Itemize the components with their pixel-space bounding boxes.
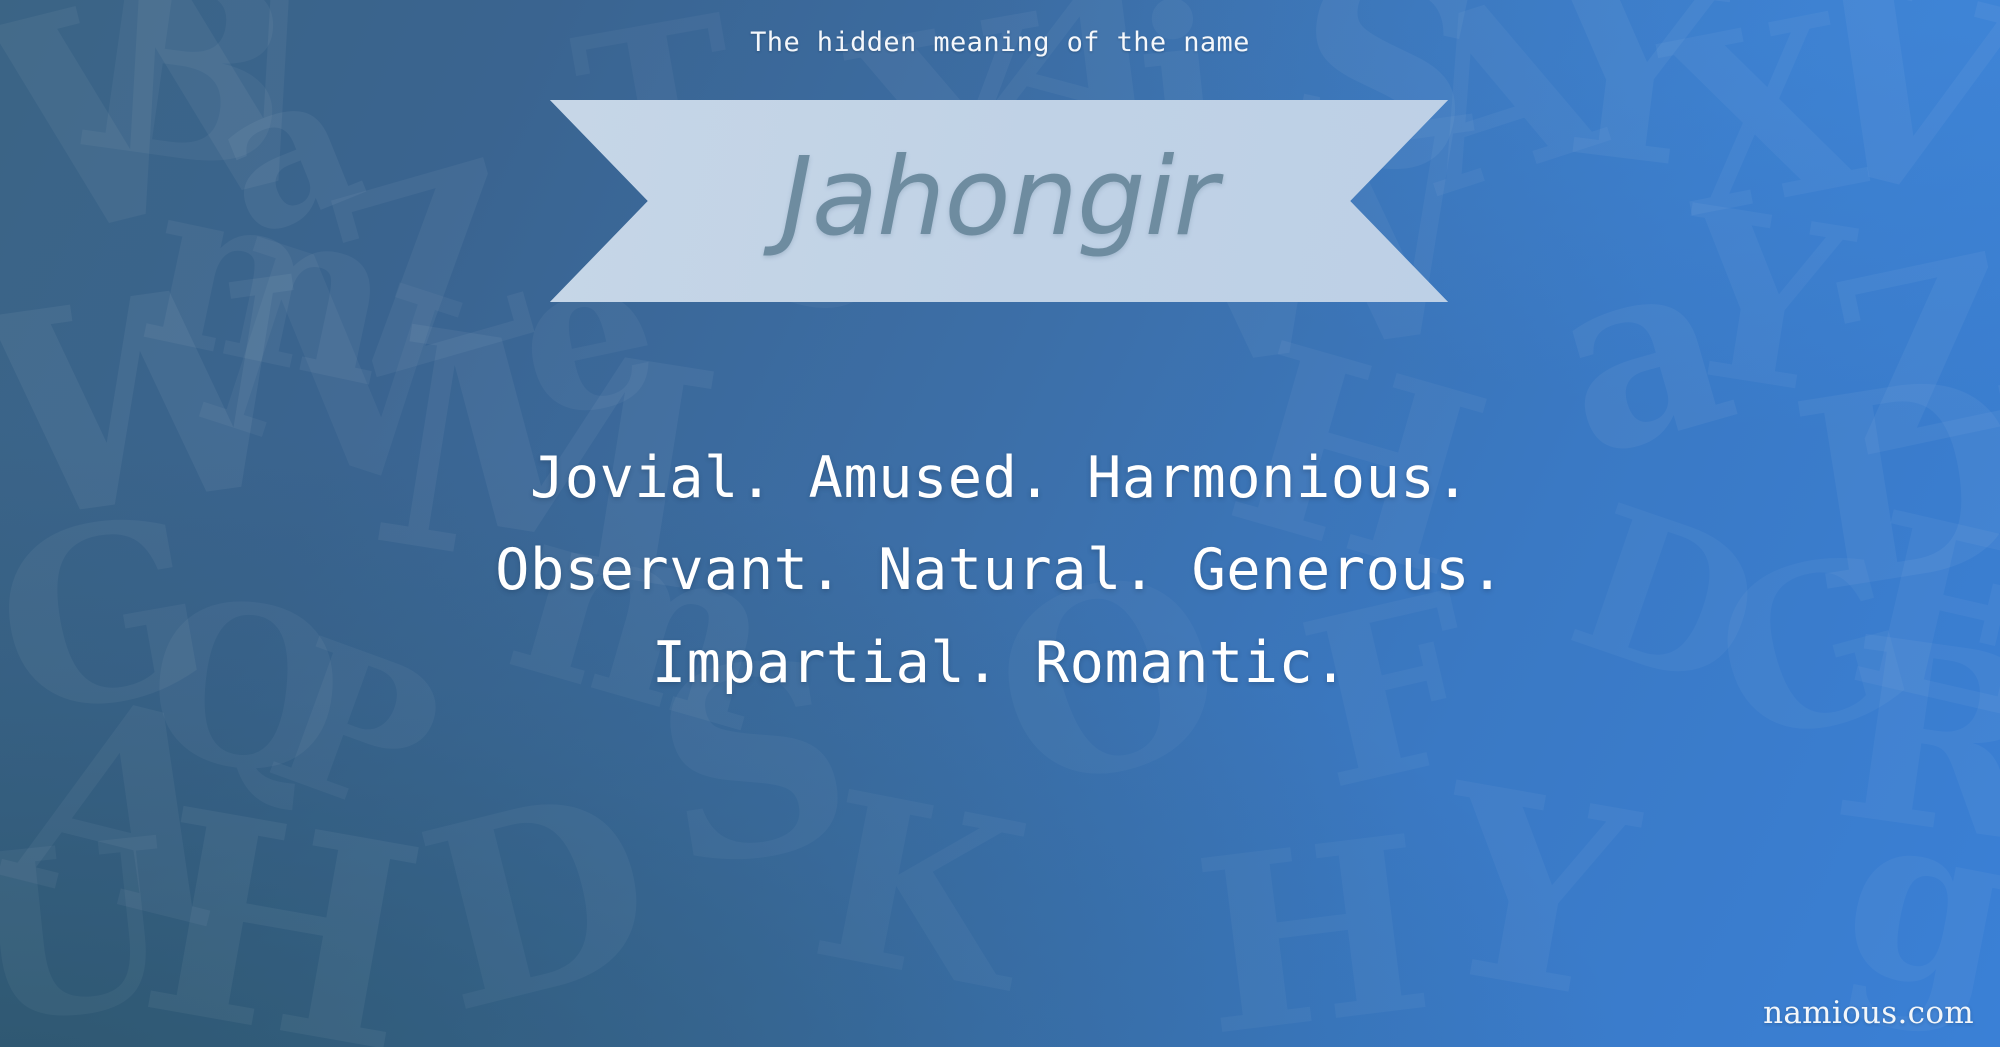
meaning-line: Jovial. Amused. Harmonious. bbox=[0, 432, 2000, 524]
meaning-line: Observant. Natural. Generous. bbox=[0, 524, 2000, 616]
page-title: The hidden meaning of the name bbox=[0, 27, 2000, 58]
name-meaning-card: WBamWNGQAUHZMemSPDKYAjSAYXVWaYZHDEGRDFYH… bbox=[0, 0, 2000, 1047]
meaning-text-block: Jovial. Amused. Harmonious. Observant. N… bbox=[0, 432, 2000, 709]
watermark-letter: Z bbox=[316, 149, 547, 392]
site-watermark: namious.com bbox=[1763, 995, 1974, 1031]
name-ribbon: Jahongir bbox=[550, 100, 1448, 302]
watermark-letter: H bbox=[1189, 827, 1437, 1045]
watermark-letter: g bbox=[1834, 796, 2000, 1007]
watermark-letter: K bbox=[804, 783, 1035, 1002]
watermark-letter: U bbox=[0, 830, 180, 1034]
watermark-letter: Y bbox=[1423, 775, 1642, 1012]
watermark-letter: Y bbox=[1667, 198, 1858, 405]
name-text: Jahongir bbox=[550, 100, 1448, 302]
watermark-letter: m bbox=[134, 167, 410, 398]
watermark-letter: H bbox=[133, 799, 432, 1047]
meaning-line: Impartial. Romantic. bbox=[0, 617, 2000, 709]
watermark-letter: D bbox=[409, 777, 668, 1024]
watermark-letter: A bbox=[0, 678, 253, 938]
watermark-letter: a bbox=[195, 52, 375, 249]
